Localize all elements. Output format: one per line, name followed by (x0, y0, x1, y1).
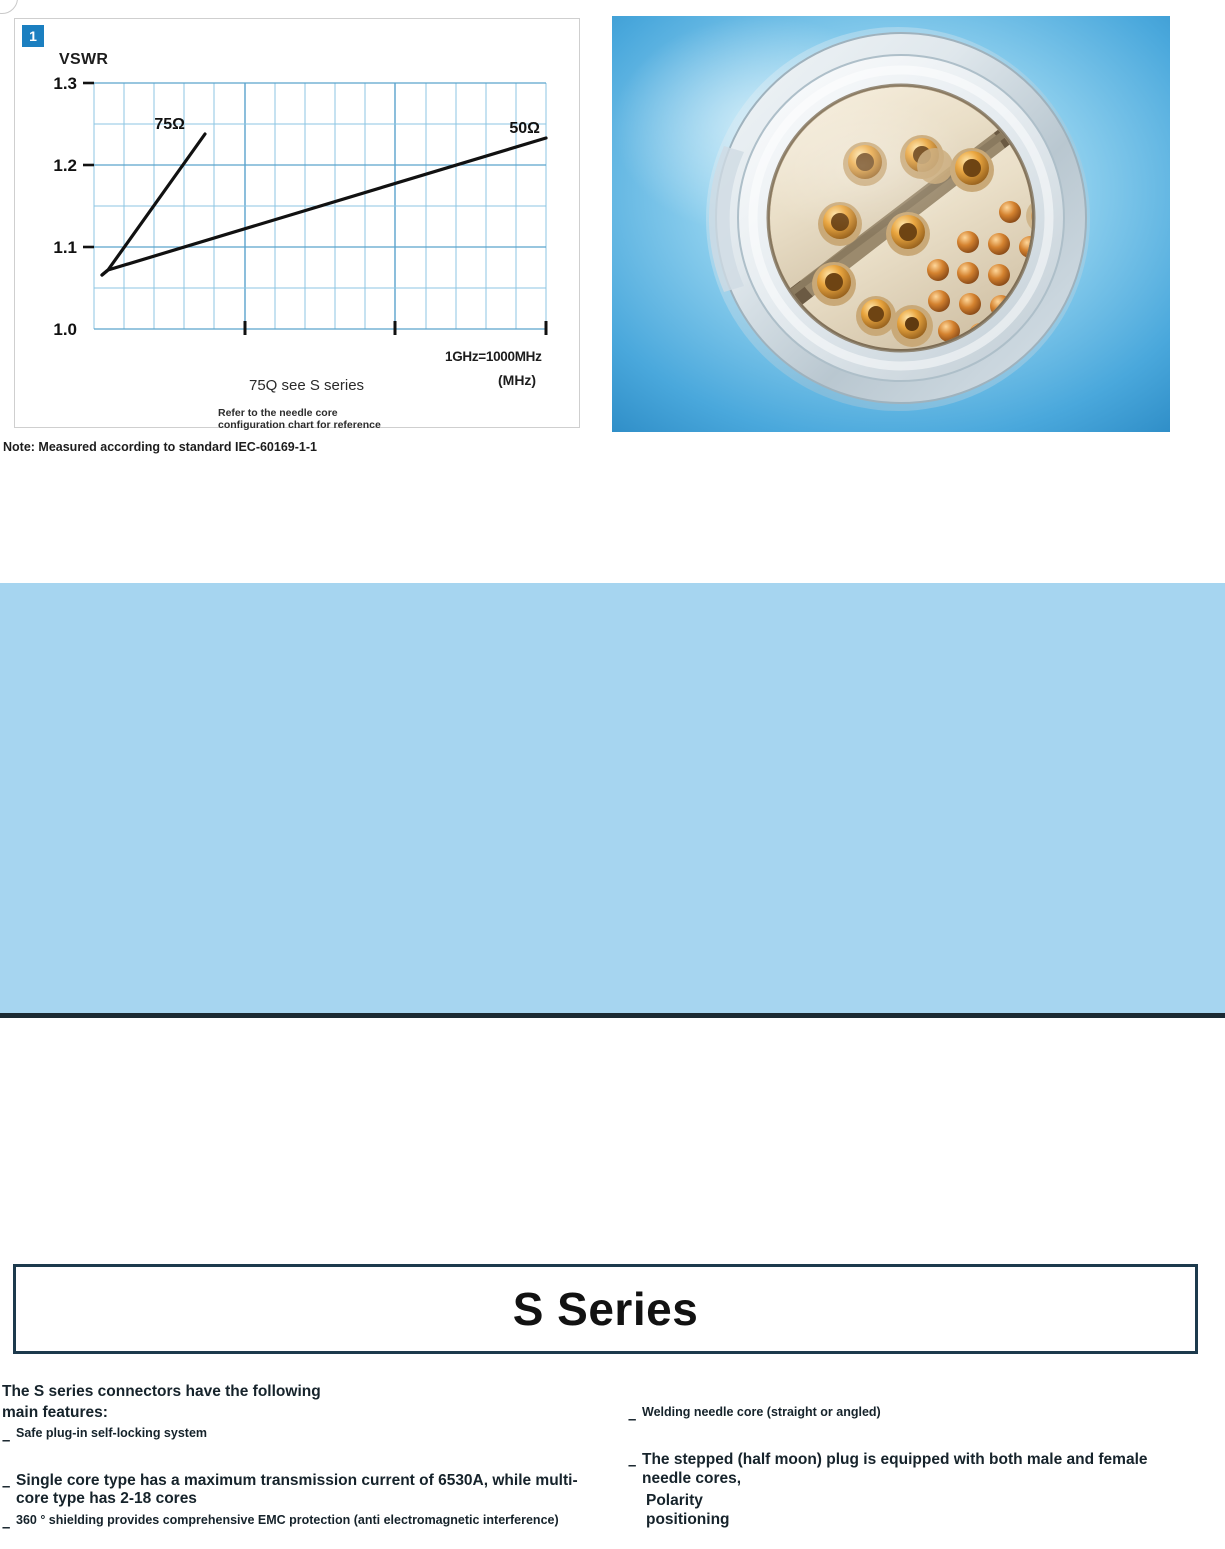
x-axis-ticks (245, 321, 546, 335)
y-tick-label-1-1: 1.1 (53, 238, 77, 257)
y-axis-ticks (83, 83, 94, 247)
vswr-chart-card: 1 VSWR (14, 18, 580, 428)
s-series-title: S Series (513, 1282, 699, 1336)
connector-photo-svg (612, 16, 1170, 432)
bullet-dash-icon: – (628, 1451, 642, 1475)
s-series-panel: S Series The S series connectors have th… (0, 583, 1225, 1013)
feature-bullet-text: The stepped (half moon) plug is equipped… (642, 1451, 1188, 1488)
s-series-title-box: S Series (13, 1264, 1198, 1354)
feature-bullet: – Single core type has a maximum transmi… (2, 1472, 602, 1509)
bullet-dash-icon: – (2, 1426, 16, 1450)
bullet-dash-icon: – (2, 1513, 16, 1537)
small-pin (928, 290, 950, 312)
vswr-plot-area: 1.3 1.2 1.1 1.0 75Ω 50Ω (15, 19, 581, 429)
features-left-column: The S series connectors have the followi… (2, 1383, 602, 1549)
vswr-plot-svg: 1.3 1.2 1.1 1.0 75Ω 50Ω (15, 19, 581, 429)
features-heading-line-1: The S series connectors have the followi… (2, 1383, 602, 1401)
chart-refer-note: Refer to the needle core configuration c… (218, 407, 381, 431)
feature-bullet: – The stepped (half moon) plug is equipp… (628, 1451, 1188, 1488)
bullet-dash-icon: – (2, 1472, 16, 1496)
chart-x-caption: 75Q see S series (249, 377, 364, 394)
feature-bullet-text: 360 ° shielding provides comprehensive E… (16, 1513, 559, 1528)
features-right-column: – Welding needle core (straight or angle… (628, 1405, 1188, 1529)
panel-bottom-rule (0, 1013, 1225, 1018)
connector-photo (612, 16, 1170, 432)
y-tick-label-1-2: 1.2 (53, 156, 77, 175)
large-socket (812, 262, 856, 306)
bullet-dash-icon: – (628, 1405, 642, 1429)
large-socket (856, 296, 896, 336)
x-axis-unit-label: (MHz) (498, 372, 536, 388)
keyed-socket (891, 305, 933, 347)
refer-note-line-2: configuration chart for reference (218, 419, 381, 431)
refer-note-line-1: Refer to the needle core (218, 407, 381, 419)
small-pin (957, 262, 979, 284)
small-pin (988, 264, 1010, 286)
small-pin (999, 201, 1021, 223)
feature-bullet: – Welding needle core (straight or angle… (628, 1405, 1188, 1429)
feature-sub-line-positioning: positioning (628, 1511, 1188, 1530)
y-tick-label-1-3: 1.3 (53, 74, 77, 93)
feature-sub-line-polarity: Polarity (628, 1492, 1188, 1511)
feature-bullet-text: Single core type has a maximum transmiss… (16, 1472, 602, 1509)
measurement-standard-note: Note: Measured according to standard IEC… (3, 440, 333, 455)
feature-bullet-text: Welding needle core (straight or angled) (642, 1405, 881, 1420)
corner-arc-artifact (0, 0, 18, 14)
small-pin (957, 231, 979, 253)
annotation-75ohm: 75Ω (154, 116, 185, 133)
small-pin (988, 233, 1010, 255)
y-tick-label-1-0: 1.0 (53, 320, 77, 339)
x-axis-ghz-note: 1GHz=1000MHz (445, 349, 542, 364)
small-pin (959, 293, 981, 315)
small-pin (927, 259, 949, 281)
feature-bullet: – 360 ° shielding provides comprehensive… (2, 1513, 602, 1537)
feature-bullet: – Safe plug-in self-locking system (2, 1426, 602, 1450)
features-heading-line-2: main features: (2, 1404, 602, 1422)
feature-bullet-text: Safe plug-in self-locking system (16, 1426, 207, 1441)
annotation-50ohm: 50Ω (509, 120, 540, 137)
